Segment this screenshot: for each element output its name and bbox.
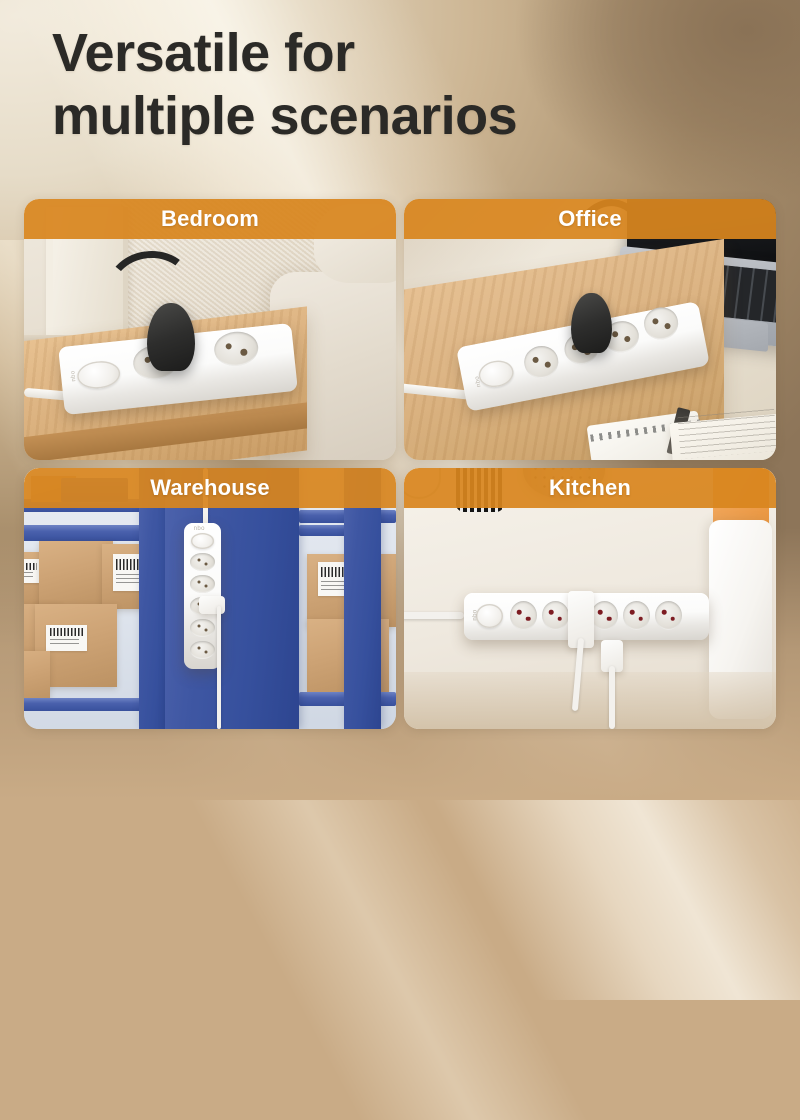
warehouse-socket-5: [190, 641, 215, 659]
warehouse-plug-cord: [217, 606, 221, 729]
kitchen-socket-5: [655, 601, 682, 630]
warehouse-label-l1: [24, 559, 39, 582]
bedroom-card-caption: Bedroom: [24, 199, 396, 239]
kitchen-card-label: Kitchen: [549, 475, 631, 501]
warehouse-socket-1: [190, 553, 215, 571]
office-card-label: Office: [558, 206, 622, 232]
scenario-card-office[interactable]: nbo Office: [404, 199, 776, 460]
bedroom-card-label: Bedroom: [161, 206, 259, 232]
warehouse-box-l6: [24, 651, 50, 703]
office-card-caption: Office: [404, 199, 776, 239]
scenario-card-kitchen[interactable]: nbo Kitchen: [404, 468, 776, 729]
warehouse-card-caption: Warehouse: [24, 468, 396, 508]
warehouse-beam-upper-left-2: [24, 525, 158, 541]
kitchen-socket-3: [591, 601, 618, 630]
warehouse-brand-mark: nbo: [194, 526, 205, 532]
kitchen-card-caption: Kitchen: [404, 468, 776, 508]
kitchen-second-cord: [609, 666, 615, 729]
kitchen-brand-mark: nbo: [472, 609, 478, 620]
office-book-text-lines: [678, 409, 776, 459]
warehouse-beam-lower-left: [24, 698, 143, 711]
scenario-card-grid: nbo Bedroom: [24, 199, 776, 761]
page-title-line-1: Versatile for: [52, 22, 517, 85]
page-title: Versatile for multiple scenarios: [52, 22, 517, 147]
warehouse-card-label: Warehouse: [150, 475, 270, 501]
kitchen-power-button: [476, 604, 503, 628]
page-title-line-2: multiple scenarios: [52, 85, 517, 148]
scenario-card-warehouse[interactable]: nbo Warehouse: [24, 468, 396, 729]
kitchen-socket-1: [510, 601, 537, 630]
kitchen-socket-4: [623, 601, 650, 630]
kitchen-left-cord: [404, 612, 464, 619]
warehouse-socket-4: [190, 619, 215, 637]
scenario-card-bedroom[interactable]: nbo Bedroom: [24, 199, 396, 460]
warehouse-label-l5: [46, 625, 87, 651]
warehouse-socket-2: [190, 575, 215, 593]
kitchen-counter: [404, 672, 776, 729]
kitchen-socket-2: [542, 601, 569, 630]
